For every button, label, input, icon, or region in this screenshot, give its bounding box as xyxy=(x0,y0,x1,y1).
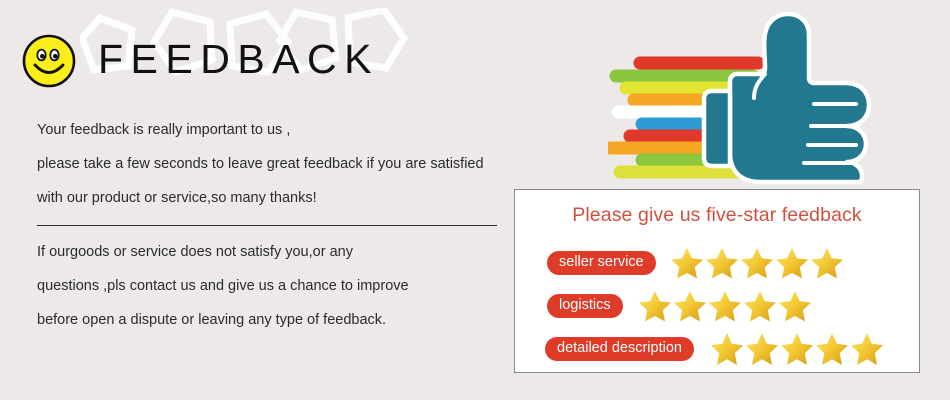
rating-panel: Please give us five-star feedback seller… xyxy=(514,189,920,373)
dispute-paragraph: If ourgoods or service does not satisfy … xyxy=(37,235,409,337)
intro-paragraph: Your feedback is really important to us … xyxy=(37,113,484,215)
intro-line-1: Your feedback is really important to us … xyxy=(37,113,484,147)
rating-label-detailed-description: detailed description xyxy=(545,337,694,361)
star-rating-seller-service xyxy=(670,245,845,281)
star-icon xyxy=(776,248,808,278)
rating-row: logistics xyxy=(515,286,919,326)
rating-row-list: seller service xyxy=(515,243,919,372)
smiley-face-icon xyxy=(21,33,77,89)
page-title: FEEDBACK xyxy=(98,33,379,85)
star-icon xyxy=(709,291,741,321)
star-icon xyxy=(816,333,848,365)
star-icon xyxy=(639,291,671,321)
star-icon xyxy=(779,291,811,321)
intro-line-3: with our product or service,so many than… xyxy=(37,181,484,215)
thumbs-up-icon xyxy=(608,8,878,186)
star-rating-detailed-description xyxy=(710,330,885,368)
thumb-wrist-shape xyxy=(704,91,730,166)
dispute-line-3: before open a dispute or leaving any typ… xyxy=(37,303,409,337)
rating-label-logistics: logistics xyxy=(547,294,623,318)
left-column: FEEDBACK Your feedback is really importa… xyxy=(0,0,520,400)
intro-line-2: please take a few seconds to leave great… xyxy=(37,147,484,181)
feedback-banner: FEEDBACK Your feedback is really importa… xyxy=(0,0,950,400)
rating-row: detailed description xyxy=(515,329,919,369)
star-icon xyxy=(741,248,773,278)
rating-row: seller service xyxy=(515,243,919,283)
star-icon xyxy=(711,333,743,365)
rating-label-seller-service: seller service xyxy=(547,251,656,275)
dispute-line-1: If ourgoods or service does not satisfy … xyxy=(37,235,409,269)
star-rating-logistics xyxy=(638,288,813,324)
star-icon xyxy=(781,333,813,365)
thumb-hand-shape xyxy=(730,14,869,182)
dispute-line-2: questions ,pls contact us and give us a … xyxy=(37,269,409,303)
star-icon xyxy=(744,291,776,321)
star-icon xyxy=(674,291,706,321)
rating-title: Please give us five-star feedback xyxy=(515,204,919,227)
star-icon xyxy=(746,333,778,365)
star-icon xyxy=(811,248,843,278)
star-icon xyxy=(671,248,703,278)
star-icon xyxy=(706,248,738,278)
section-divider xyxy=(37,225,497,226)
star-icon xyxy=(851,333,883,365)
